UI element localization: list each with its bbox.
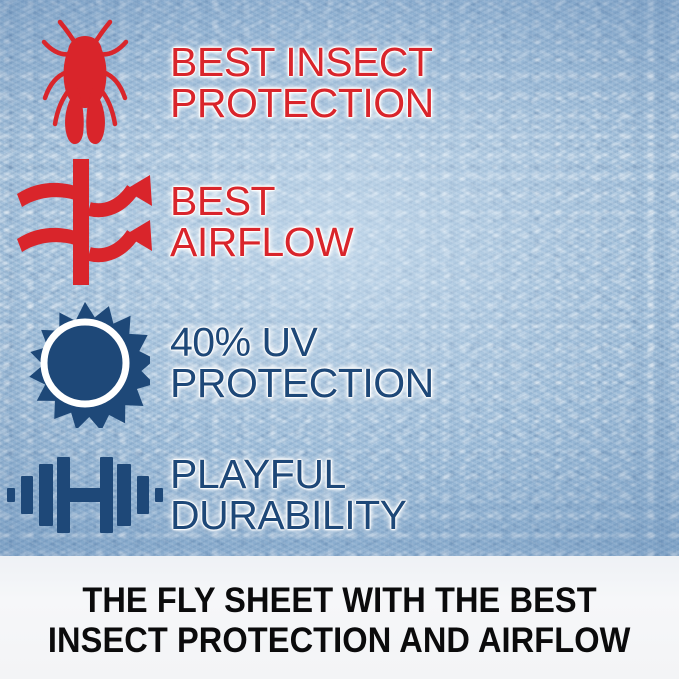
feature-icon-cell-uv xyxy=(0,298,170,428)
feature-label-insect: BEST INSECT PROTECTION xyxy=(170,42,679,123)
feature-icon-cell-durability xyxy=(0,454,170,536)
airflow-arrows-icon xyxy=(9,159,161,285)
feature-icon-cell-insect xyxy=(0,16,170,150)
feature-label-uv: 40% UV PROTECTION xyxy=(170,322,679,403)
sun-uv-icon xyxy=(20,298,150,428)
feature-list: BEST INSECT PROTECTION xyxy=(0,0,679,556)
feature-row-airflow: BEST AIRFLOW xyxy=(0,158,679,286)
feature-icon-cell-airflow xyxy=(0,159,170,285)
tagline-line-1: THE FLY SHEET WITH THE BEST xyxy=(82,581,596,621)
bottom-tagline-banner: THE FLY SHEET WITH THE BEST INSECT PROTE… xyxy=(0,556,679,679)
feature-row-insect: BEST INSECT PROTECTION xyxy=(0,14,679,152)
feature-row-durability: PLAYFUL DURABILITY xyxy=(0,436,679,554)
fly-icon xyxy=(27,16,143,150)
feature-label-airflow: BEST AIRFLOW xyxy=(170,181,679,262)
tagline-line-2: INSECT PROTECTION AND AIRFLOW xyxy=(48,621,631,661)
feature-label-durability: PLAYFUL DURABILITY xyxy=(170,454,679,535)
feature-row-uv: 40% UV PROTECTION xyxy=(0,296,679,430)
product-feature-infographic: BEST INSECT PROTECTION xyxy=(0,0,679,679)
dumbbell-icon xyxy=(5,454,165,536)
